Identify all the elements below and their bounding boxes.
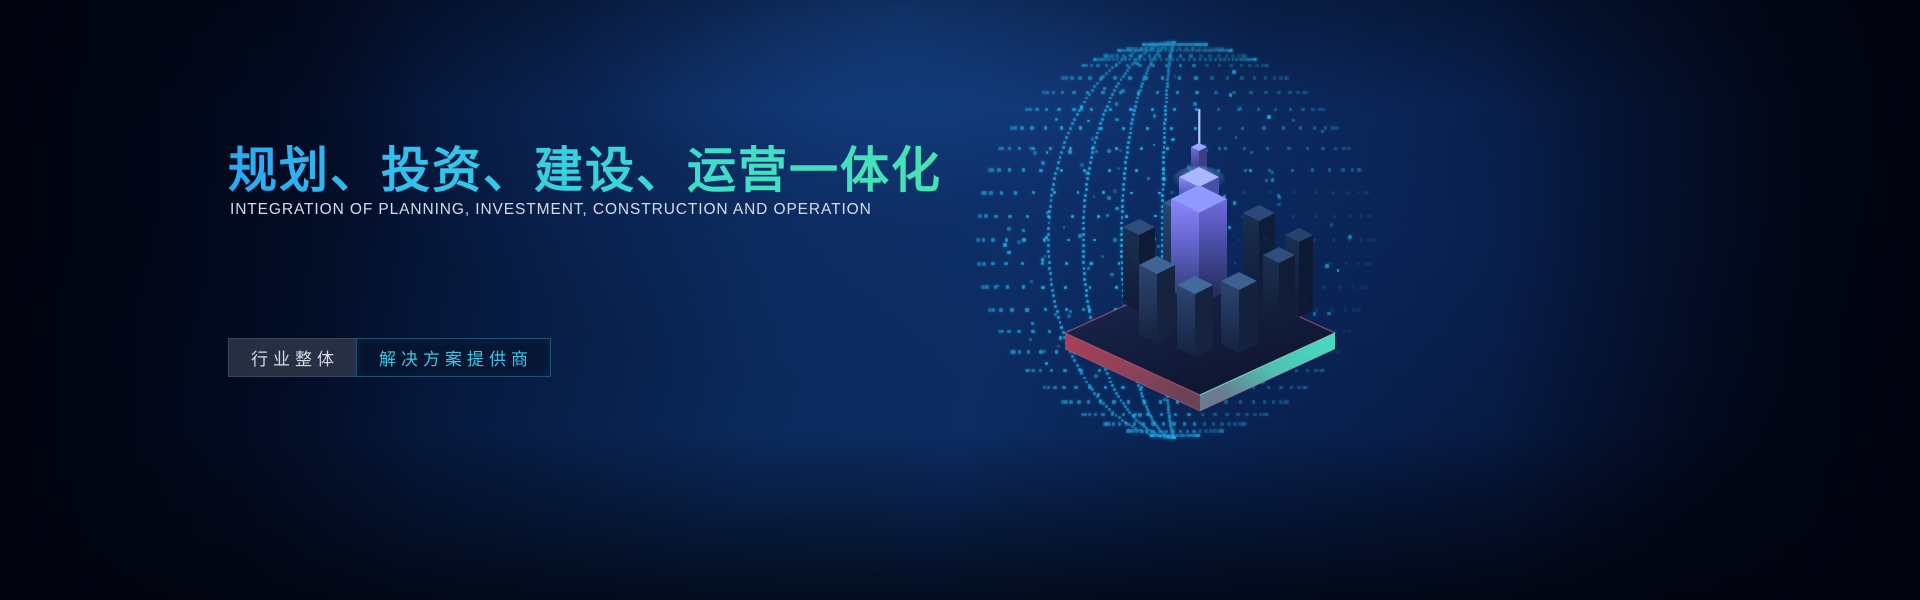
hero-text-block: 规划、投资、建设、运营一体化 INTEGRATION OF PLANNING, … [228, 0, 1048, 600]
badge-segment-solution-provider: 解决方案提供商 [356, 338, 551, 377]
page-subtitle: INTEGRATION OF PLANNING, INVESTMENT, CON… [230, 201, 872, 219]
hero-banner: 规划、投资、建设、运营一体化 INTEGRATION OF PLANNING, … [0, 0, 1920, 600]
tagline-badge: 行业整体 解决方案提供商 [228, 338, 551, 377]
page-title: 规划、投资、建设、运营一体化 [228, 143, 942, 201]
badge-segment-industry: 行业整体 [228, 338, 356, 377]
